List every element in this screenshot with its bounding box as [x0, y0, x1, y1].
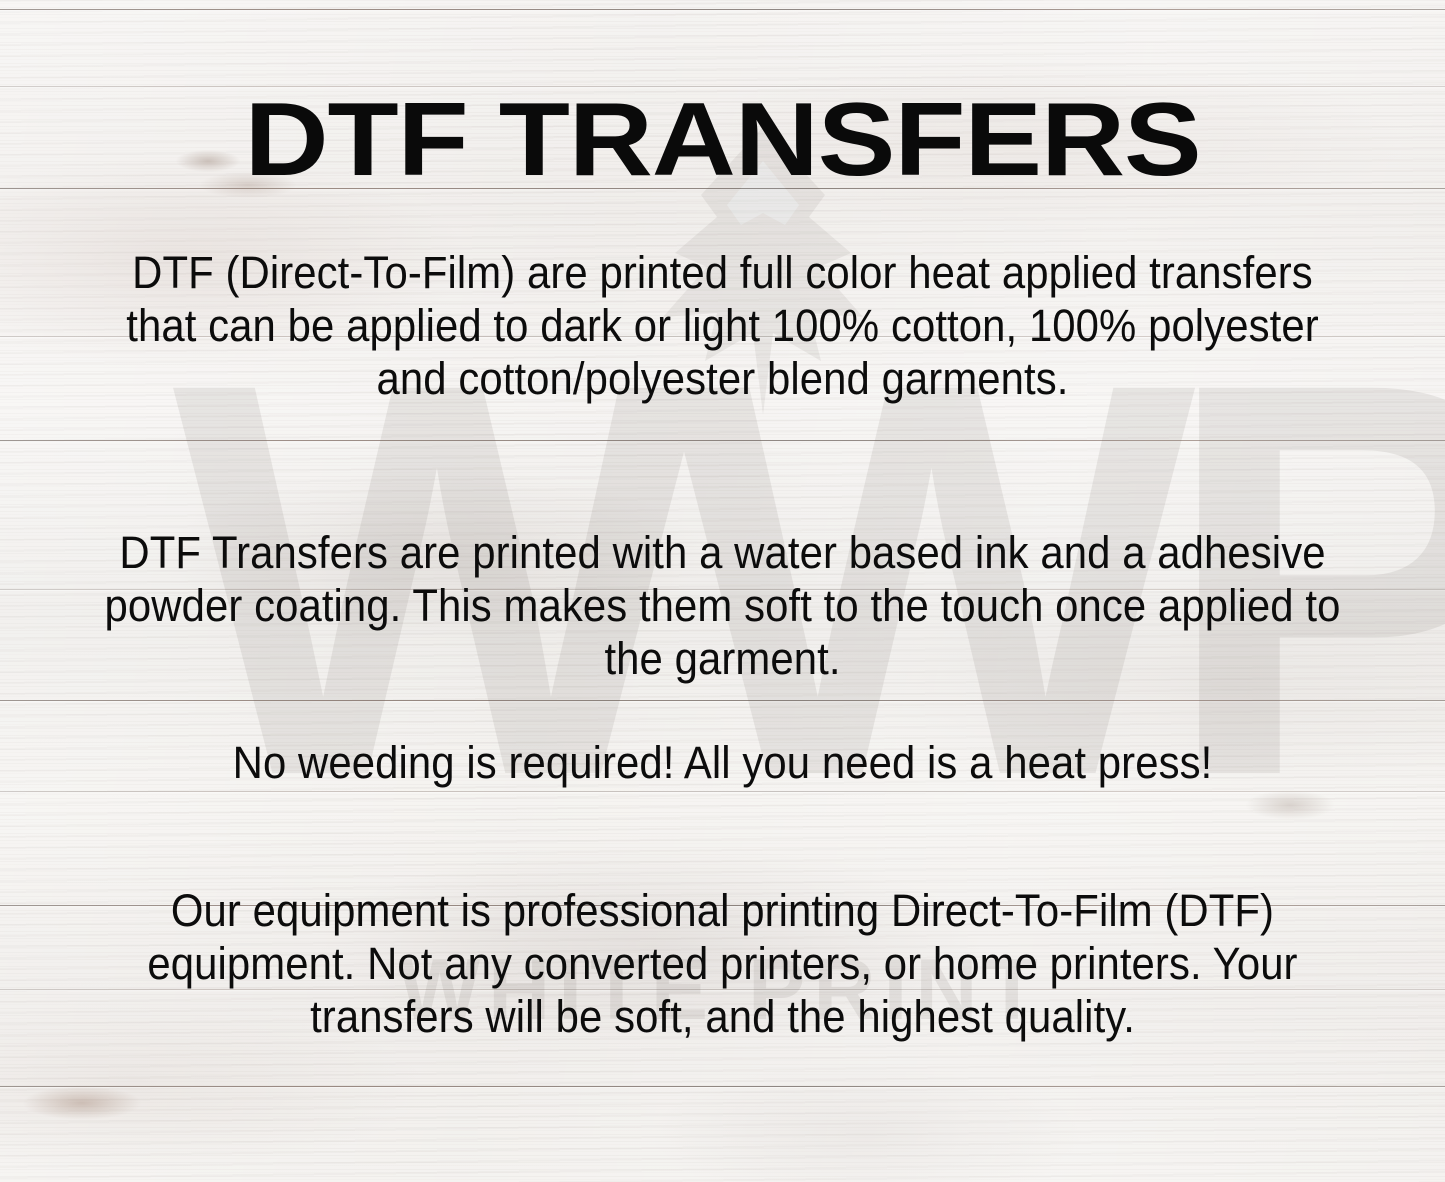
paragraph-ink-coating: DTF Transfers are printed with a water b… [97, 526, 1348, 685]
paragraph-equipment: Our equipment is professional printing D… [97, 884, 1348, 1043]
dtf-transfers-info-graphic: WWP WHITE PRINT DTF TRANSFERS DTF (Direc… [0, 0, 1445, 1182]
content-layer: DTF TRANSFERS DTF (Direct-To-Film) are p… [0, 0, 1445, 1182]
page-title: DTF TRANSFERS [0, 88, 1445, 192]
paragraph-no-weeding: No weeding is required! All you need is … [97, 736, 1348, 789]
paragraph-description: DTF (Direct-To-Film) are printed full co… [97, 246, 1348, 405]
